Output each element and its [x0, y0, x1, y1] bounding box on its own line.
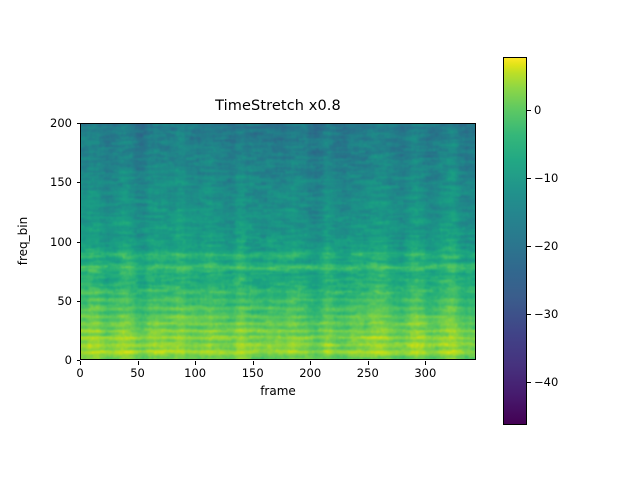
colorbar-tick-mark — [527, 110, 531, 111]
colorbar-tick-mark — [527, 178, 531, 179]
y-tick-label: 200 — [50, 116, 72, 130]
colorbar-tick-mark — [527, 314, 531, 315]
matplotlib-figure: TimeStretch x0.8 050100150200250300 0501… — [0, 0, 640, 480]
y-tick-label: 150 — [50, 175, 72, 189]
colorbar-tick-label: 0 — [534, 103, 541, 117]
y-tick-label: 0 — [65, 353, 72, 367]
x-tick-label: 100 — [184, 366, 206, 380]
x-tick-mark — [195, 361, 196, 365]
colorbar-tick-label: −20 — [534, 239, 558, 253]
y-tick-mark — [77, 360, 81, 361]
x-tick-mark — [253, 361, 254, 365]
x-axis-label: frame — [80, 384, 476, 398]
x-tick-label: 200 — [299, 366, 321, 380]
x-tick-mark — [425, 361, 426, 365]
spectrogram-axes — [80, 123, 476, 360]
x-tick-label: 300 — [414, 366, 436, 380]
colorbar-tick-label: −10 — [534, 171, 558, 185]
x-tick-label: 150 — [242, 366, 264, 380]
y-tick-mark — [77, 301, 81, 302]
x-tick-label: 0 — [76, 366, 83, 380]
y-tick-mark — [77, 242, 81, 243]
x-tick-label: 250 — [357, 366, 379, 380]
y-tick-mark — [77, 182, 81, 183]
x-tick-mark — [138, 361, 139, 365]
x-tick-mark — [310, 361, 311, 365]
y-tick-mark — [77, 123, 81, 124]
y-tick-label: 100 — [50, 235, 72, 249]
x-tick-mark — [80, 361, 81, 365]
y-axis-label: freq_bin — [16, 217, 30, 265]
chart-title: TimeStretch x0.8 — [80, 98, 476, 114]
x-tick-mark — [368, 361, 369, 365]
colorbar-tick-label: −40 — [534, 375, 558, 389]
y-tick-label: 50 — [57, 294, 72, 308]
colorbar-tick-label: −30 — [534, 307, 558, 321]
colorbar-tick-mark — [527, 382, 531, 383]
colorbar — [503, 57, 527, 425]
colorbar-tick-mark — [527, 246, 531, 247]
spectrogram-image — [81, 124, 475, 359]
x-tick-label: 50 — [130, 366, 145, 380]
